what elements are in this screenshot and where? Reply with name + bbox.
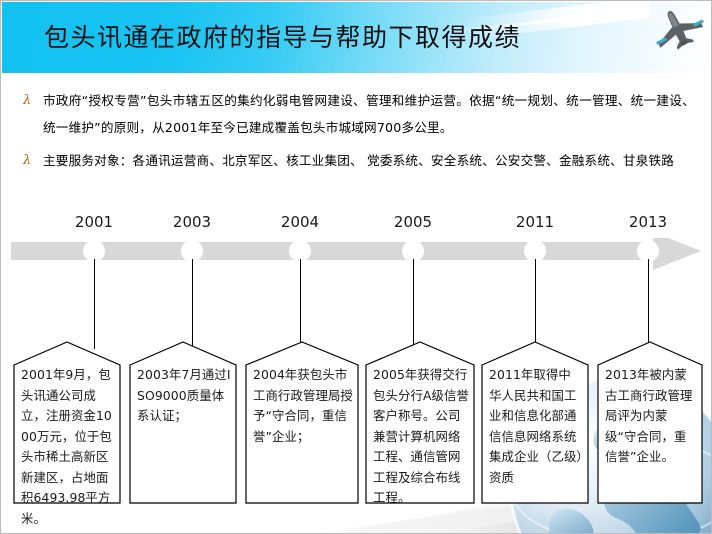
callout-text: 2001年9月，包头讯通公司成立，注册资金1000万元，位于包头市稀土高新区新建… [21, 365, 115, 529]
callout-box-2005[interactable]: 2005年获得交行包头分行A级信誉客户称号。公司兼营计算机网络工程、通信管网工程… [365, 341, 475, 504]
timeline-year-2003: 2003 [173, 213, 211, 231]
timeline-year-2001: 2001 [75, 213, 113, 231]
timeline: 2001 2003 2004 2005 2011 2013 [1, 213, 712, 259]
timeline-year-2005: 2005 [394, 213, 432, 231]
callout-box-2003[interactable]: 2003年7月通过ISO9000质量体系认证； [129, 341, 237, 504]
list-item: λ 主要服务对象：各通讯运营商、北京军区、核工业集团、 党委系统、安全系统、公安… [23, 147, 695, 174]
slide-header: 包头讯通在政府的指导与帮助下取得成绩 [2, 2, 712, 73]
callout-box-2001[interactable]: 2001年9月，包头讯通公司成立，注册资金1000万元，位于包头市稀土高新区新建… [13, 341, 121, 504]
timeline-year-2004: 2004 [281, 213, 319, 231]
callout-box-2013[interactable]: 2013年被内蒙古工商行政管理局评为内蒙级“守合同，重信誉”企业。 [597, 341, 703, 504]
callout-text: 2003年7月通过ISO9000质量体系认证； [137, 365, 231, 427]
connector-line-2013 [648, 259, 649, 349]
content-layer: 包头讯通在政府的指导与帮助下取得成绩 λ 市政府“授权专营”包头市辖五区的集约化… [1, 1, 712, 534]
airplane-icon [650, 6, 706, 50]
bullet-text: 市政府“授权专营”包头市辖五区的集约化弱电管网建设、管理和维护运营。依据“统一规… [43, 87, 695, 141]
timeline-year-2011: 2011 [516, 213, 554, 231]
bullet-list: λ 市政府“授权专营”包头市辖五区的集约化弱电管网建设、管理和维护运营。依据“统… [23, 87, 695, 180]
slide-canvas: 包头讯通在政府的指导与帮助下取得成绩 λ 市政府“授权专营”包头市辖五区的集约化… [0, 0, 712, 534]
callout-text: 2004年获包头市工商行政管理局授予“守合同，重信誉”企业； [253, 365, 353, 447]
callout-text: 2013年被内蒙古工商行政管理局评为内蒙级“守合同，重信誉”企业。 [605, 365, 697, 468]
bullet-text: 主要服务对象：各通讯运营商、北京军区、核工业集团、 党委系统、安全系统、公安交警… [43, 147, 695, 174]
timeline-year-2013: 2013 [629, 213, 667, 231]
connector-line-2005 [413, 259, 414, 349]
callout-text: 2005年获得交行包头分行A级信誉客户称号。公司兼营计算机网络工程、通信管网工程… [373, 365, 469, 509]
callout-text: 2011年取得中华人民共和国工业和信息化部通信信息网络系统集成企业（乙级）资质 [489, 365, 583, 488]
list-item: λ 市政府“授权专营”包头市辖五区的集约化弱电管网建设、管理和维护运营。依据“统… [23, 87, 695, 141]
connector-line-2004 [300, 259, 301, 349]
callout-box-2004[interactable]: 2004年获包头市工商行政管理局授予“守合同，重信誉”企业； [245, 341, 359, 504]
connector-line-2001 [94, 259, 95, 349]
connector-line-2011 [535, 259, 536, 349]
bullet-marker-icon: λ [23, 87, 43, 114]
page-title: 包头讯通在政府的指导与帮助下取得成绩 [44, 18, 521, 54]
bullet-marker-icon: λ [23, 147, 43, 174]
timeline-arrow [1, 238, 712, 284]
callout-box-2011[interactable]: 2011年取得中华人民共和国工业和信息化部通信信息网络系统集成企业（乙级）资质 [481, 341, 589, 504]
connector-line-2003 [192, 259, 193, 349]
